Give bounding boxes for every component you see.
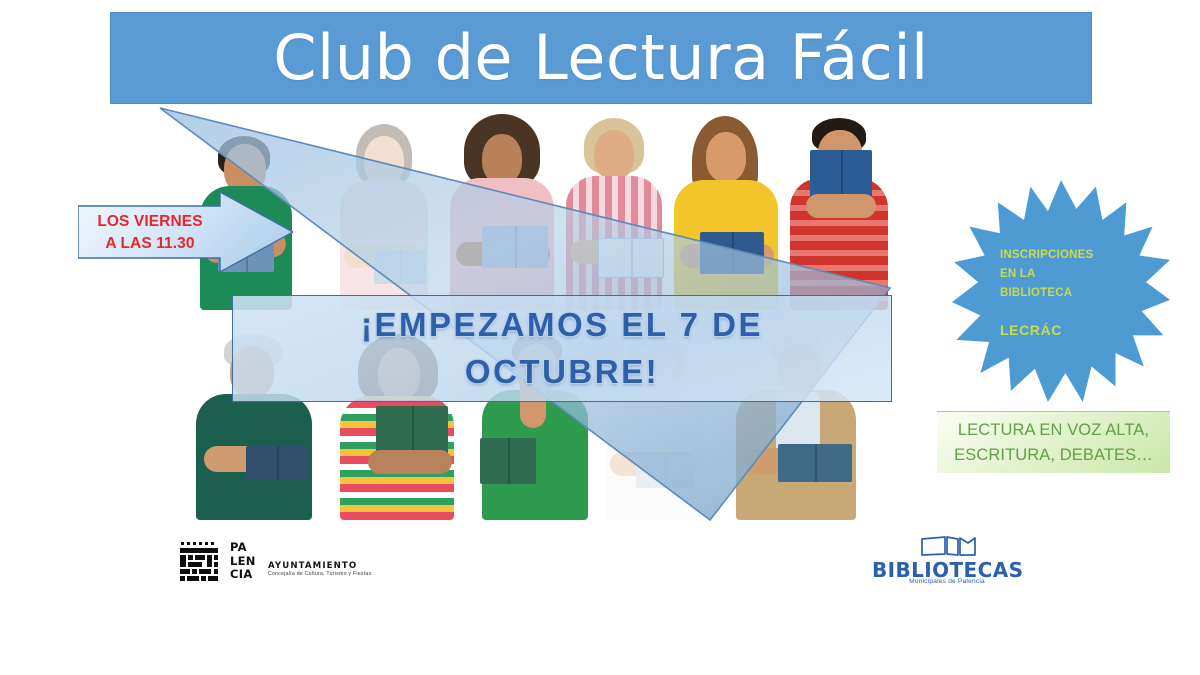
schedule-line-1: LOS VIERNES [97, 211, 202, 233]
person-photo [666, 114, 788, 310]
registration-line-1: INSCRIPCIONES [1000, 246, 1130, 265]
poster-canvas: Club de Lectura Fácil LOS VIERNES A LAS … [0, 0, 1200, 675]
bibliotecas-subtitle: Municipales de Palencia [872, 578, 1022, 585]
palencia-institution-label: AYUNTAMIENTO [268, 561, 357, 571]
start-date-line-1: ¡EMPEZAMOS EL 7 DE [361, 302, 763, 349]
schedule-line-2: A LAS 11.30 [105, 233, 194, 255]
palencia-department-label: Concejalía de Cultura, Turismo y Fiestas [268, 571, 371, 577]
palencia-wordmark: PA LEN CIA [230, 541, 256, 582]
person-photo [440, 114, 564, 310]
bibliotecas-logo: BIBLIOTECAS Municipales de Palencia [872, 533, 1022, 585]
palencia-city-logo: PA LEN CIA AYUNTAMIENTO Concejalía de Cu… [178, 540, 383, 586]
palencia-word-line-1: PA [230, 541, 256, 555]
page-title: Club de Lectura Fácil [273, 27, 929, 89]
palencia-castle-icon [178, 542, 226, 582]
person-photo [558, 114, 672, 310]
open-book-icon [918, 533, 978, 557]
poster-title-bar: Club de Lectura Fácil [110, 12, 1092, 104]
start-date-line-2: OCTUBRE! [465, 349, 659, 396]
registration-line-2: EN LA [1000, 265, 1130, 284]
palencia-word-line-3: CIA [230, 568, 256, 582]
registration-starburst: INSCRIPCIONES EN LA BIBLIOTECA LECRÁC [952, 180, 1170, 402]
lecrac-label: LECRÁC [1000, 319, 1130, 342]
schedule-arrow-callout: LOS VIERNES A LAS 11.30 [78, 192, 293, 272]
person-photo [784, 114, 890, 310]
palencia-word-line-2: LEN [230, 555, 256, 569]
start-date-banner: ¡EMPEZAMOS EL 7 DE OCTUBRE! [232, 295, 892, 402]
schedule-text: LOS VIERNES A LAS 11.30 [84, 208, 216, 258]
registration-text: INSCRIPCIONES EN LA BIBLIOTECA LECRÁC [1000, 246, 1130, 342]
activities-box: LECTURA EN VOZ ALTA, ESCRITURA, DEBATES… [937, 411, 1170, 473]
activities-line-2: ESCRITURA, DEBATES… [954, 443, 1153, 468]
person-photo [330, 118, 438, 310]
activities-line-1: LECTURA EN VOZ ALTA, [958, 418, 1149, 443]
registration-line-3: BIBLIOTECA [1000, 284, 1130, 303]
